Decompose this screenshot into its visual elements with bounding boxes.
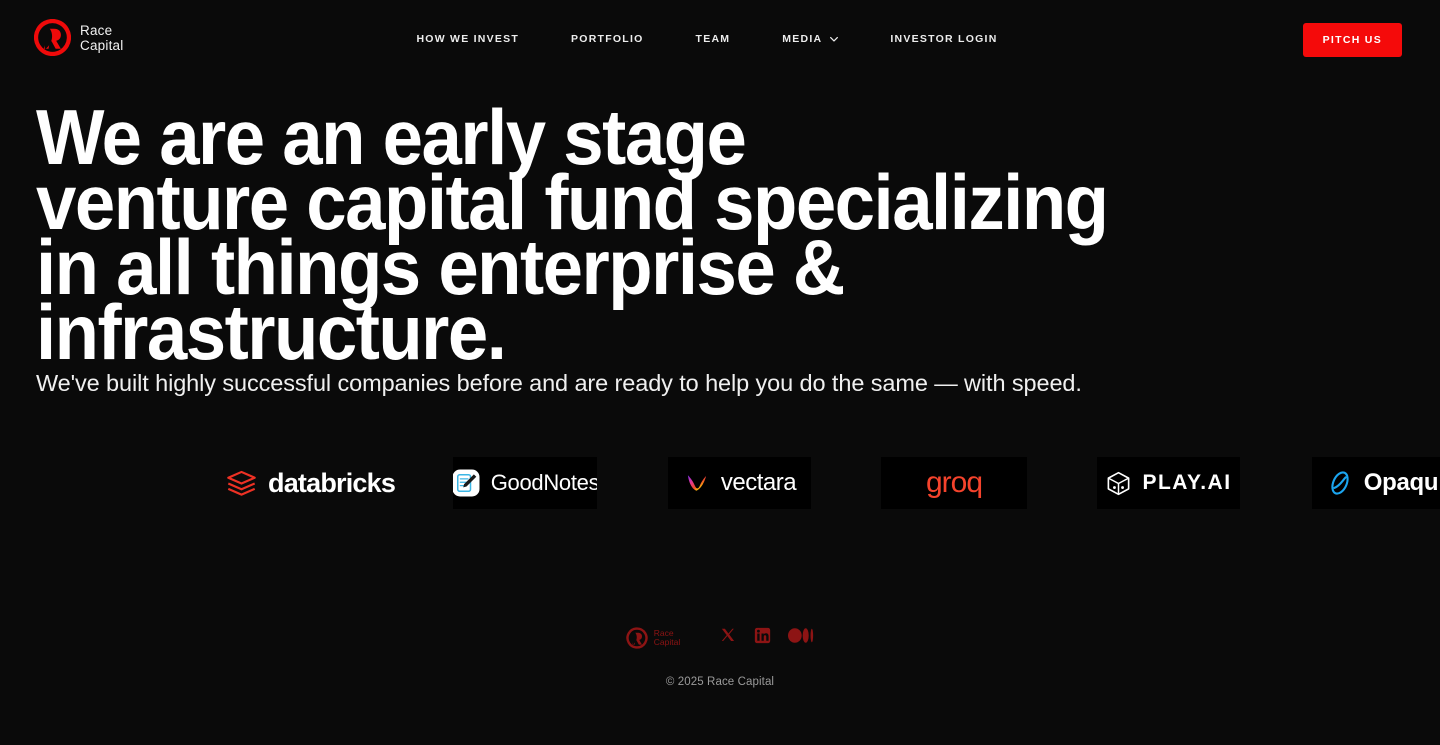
playai-cube-icon [1105, 470, 1132, 497]
main-navigation: HOW WE INVEST PORTFOLIO TEAM MEDIA [0, 0, 1440, 78]
portfolio-logo-goodnotes[interactable]: GoodNotes [453, 457, 597, 509]
site-header: Race Capital HOW WE INVEST PORTFOLIO TEA… [0, 0, 1440, 78]
portfolio-logo-label: Opaqu [1364, 469, 1439, 497]
portfolio-logo-label: vectara [721, 469, 796, 497]
hero-subheading: We've built highly successful companies … [36, 366, 1082, 400]
portfolio-logo-label: groq [926, 466, 982, 500]
medium-icon[interactable] [788, 627, 814, 649]
vectara-gradient-v-icon [683, 469, 711, 497]
social-links [720, 627, 814, 649]
portfolio-logo-databricks[interactable]: databricks [225, 457, 400, 509]
x-twitter-icon[interactable] [720, 627, 737, 649]
portfolio-logo-label: GoodNotes [491, 470, 597, 496]
nav-item-how-we-invest[interactable]: HOW WE INVEST [416, 33, 545, 45]
nav-item-team[interactable]: TEAM [670, 33, 757, 45]
portfolio-logo-vectara[interactable]: vectara [668, 457, 811, 509]
nav-item-portfolio[interactable]: PORTFOLIO [545, 33, 670, 45]
goodnotes-note-pen-icon [453, 468, 481, 498]
portfolio-logo-opaque[interactable]: Opaqu [1312, 457, 1440, 509]
site-footer: Race Capital [0, 620, 1440, 688]
race-capital-r-mark-icon [626, 627, 648, 649]
hero-section: We are an early stage venture capital fu… [36, 105, 1406, 365]
nav-label: INVESTOR LOGIN [890, 33, 997, 45]
footer-brand-logo[interactable]: Race Capital [626, 627, 680, 649]
nav-label: PORTFOLIO [571, 33, 644, 45]
pitch-us-button[interactable]: PITCH US [1303, 23, 1402, 57]
portfolio-logo-playai[interactable]: PLAY.AI [1097, 457, 1240, 509]
nav-label: TEAM [696, 33, 731, 45]
nav-label: MEDIA [782, 33, 822, 45]
copyright-text: © 2025 Race Capital [0, 676, 1440, 688]
page-title: We are an early stage venture capital fu… [36, 105, 1310, 365]
chevron-down-icon [829, 34, 838, 43]
portfolio-logo-label: databricks [268, 468, 395, 499]
nav-item-media[interactable]: MEDIA [756, 33, 864, 45]
databricks-stacked-layers-icon [225, 467, 258, 500]
page-root: Race Capital HOW WE INVEST PORTFOLIO TEA… [0, 0, 1440, 745]
opaque-loop-icon [1326, 469, 1354, 497]
portfolio-logo-label: PLAY.AI [1142, 471, 1231, 495]
linkedin-icon[interactable] [754, 627, 771, 649]
nav-label: HOW WE INVEST [416, 33, 519, 45]
nav-item-investor-login[interactable]: INVESTOR LOGIN [864, 33, 1023, 45]
portfolio-logo-strip: databricks GoodNotes [0, 457, 1440, 511]
footer-brand-name: Race Capital [654, 629, 680, 648]
portfolio-logo-groq[interactable]: groq [881, 457, 1027, 509]
